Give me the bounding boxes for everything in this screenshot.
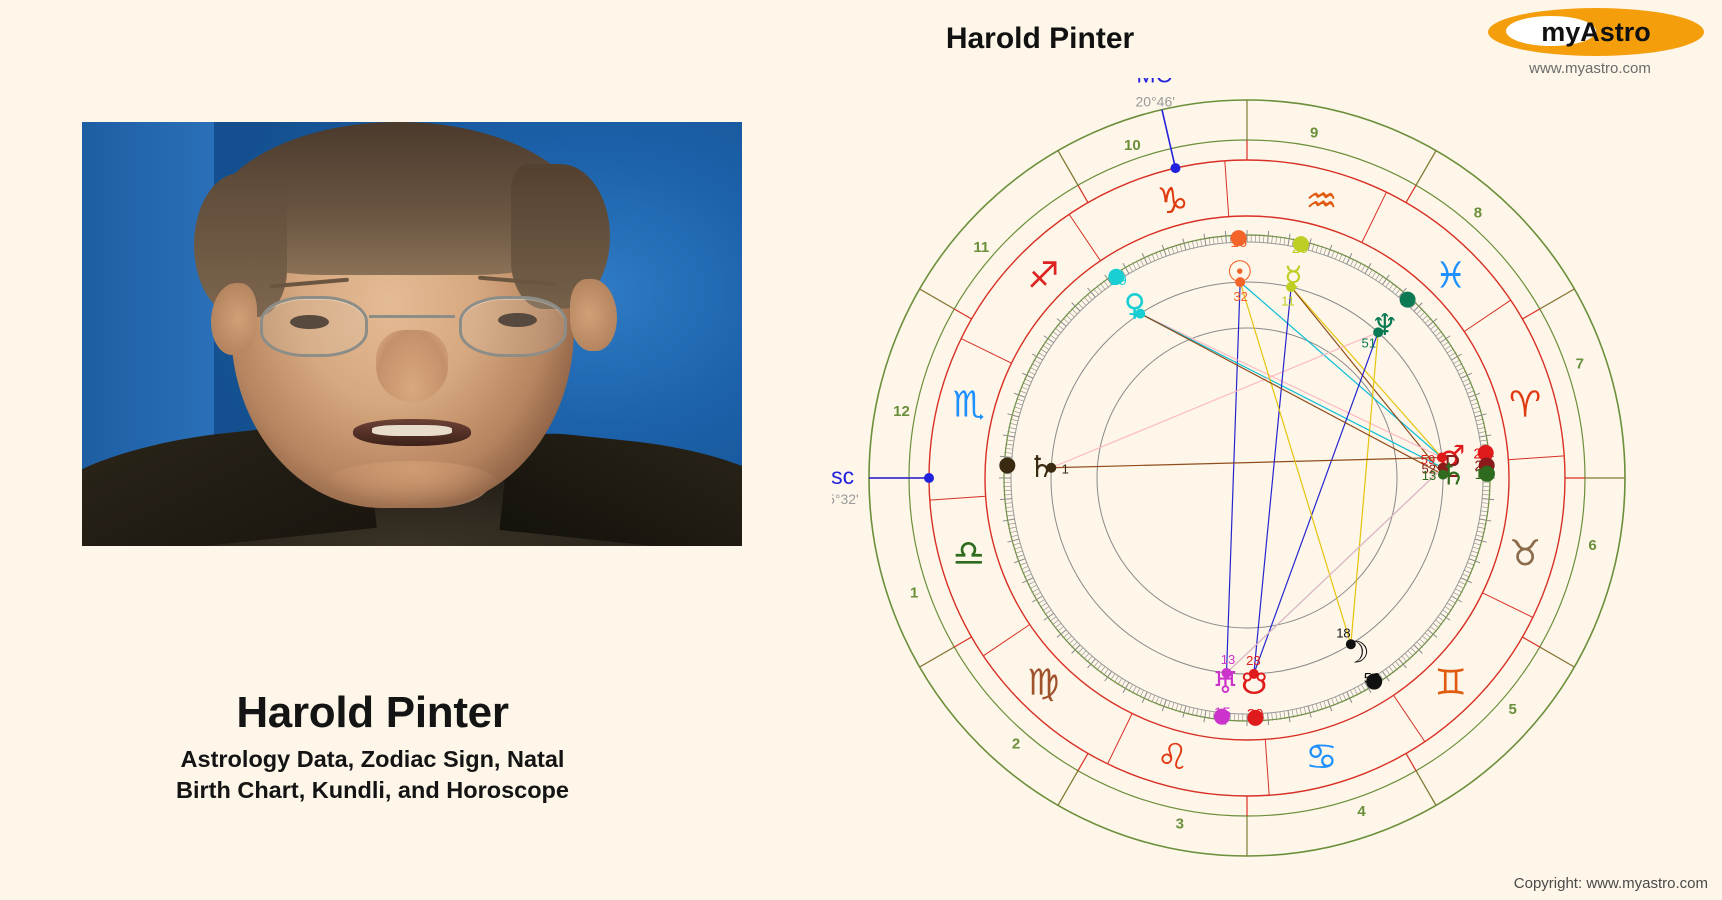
venus-degree: 29 [1110, 272, 1127, 289]
house-number-9: 9 [1310, 124, 1318, 141]
subtitle-line-2: Birth Chart, Kundli, and Horoscope [0, 775, 745, 806]
moon-degree: 56 [1364, 670, 1381, 687]
saturn-minute: 1 [1062, 461, 1069, 476]
house-number-1: 1 [910, 585, 918, 602]
south_node-glyph: ☋ [1241, 667, 1268, 702]
house-number-11: 11 [973, 239, 989, 256]
uranus-glyph: ♅ [1212, 666, 1239, 701]
angle-mc: MC20°46' [1136, 78, 1181, 173]
house-number-7: 7 [1576, 355, 1584, 372]
capricorn-glyph[interactable]: ♑ [1156, 181, 1188, 222]
portrait-chin [326, 461, 498, 503]
logo-url: www.myastro.com [1470, 60, 1710, 77]
planet-venus[interactable]: ♀29 [1108, 269, 1146, 324]
house-number-8: 8 [1474, 204, 1482, 221]
south_node-minute: 23 [1246, 653, 1260, 668]
subtitle-line-1: Astrology Data, Zodiac Sign, Natal [0, 744, 745, 775]
uranus-minute: 13 [1221, 652, 1235, 667]
sun-degree: 16 [1230, 234, 1247, 251]
mc-label: MC [1136, 78, 1172, 88]
planet-mercury[interactable]: ☿2911 [1281, 236, 1309, 309]
planet-moon[interactable]: ☽5618 [1336, 625, 1382, 689]
cancer-glyph[interactable]: ♋ [1305, 737, 1337, 778]
moon-glyph: ☽ [1343, 636, 1370, 671]
mercury-glyph: ☿ [1284, 260, 1302, 295]
saturn_node-degree: 19 [1475, 466, 1492, 483]
wheel-rings [869, 100, 1625, 856]
portrait-ear-right [570, 279, 616, 351]
portrait-ear-left [211, 283, 257, 355]
logo-text-my: my [1541, 17, 1580, 48]
house-number-10: 10 [1124, 137, 1141, 154]
page-title: Harold Pinter [840, 22, 1240, 56]
natal-chart-wheel[interactable]: ♎♍♌♋♊♉♈♓♒♑♐♏ 123456789101112 ☉1632☿2911♀… [832, 78, 1662, 878]
pisces-glyph[interactable]: ♓ [1435, 255, 1467, 296]
neptune-degree: 4 [1401, 295, 1409, 312]
sign-divider-lines [869, 100, 1625, 856]
scorpio-glyph[interactable]: ♏ [953, 384, 985, 425]
house-number-6: 6 [1588, 537, 1596, 554]
saturn_node-minute: 13 [1422, 468, 1436, 483]
portrait-glasses-right [459, 296, 567, 357]
taurus-glyph[interactable]: ♉ [1509, 534, 1541, 575]
planet-south_node[interactable]: ☋3923 [1241, 653, 1268, 726]
gemini-glyph[interactable]: ♊ [1435, 663, 1467, 704]
house-number-2: 2 [1012, 736, 1020, 753]
venus-glyph: ♀ [1124, 288, 1146, 323]
asc-label: Asc [832, 463, 854, 489]
saturn_node-glyph: ♄ [1440, 457, 1467, 492]
saturn-degree: 6 [1007, 458, 1015, 475]
portrait-nose [376, 330, 449, 402]
myastro-logo[interactable]: myAstro www.myastro.com [1470, 6, 1710, 82]
saturn-glyph: ♄ [1028, 450, 1055, 485]
uranus-degree: 15 [1214, 705, 1231, 722]
aries-glyph[interactable]: ♈ [1509, 384, 1541, 425]
portrait-glasses-bridge [369, 315, 455, 318]
asc-degree: 15°32' [832, 491, 859, 507]
logo-text-astro: Astro [1580, 17, 1651, 48]
leo-glyph[interactable]: ♌ [1156, 737, 1188, 778]
portrait-teeth [372, 425, 451, 436]
house-number-3: 3 [1176, 816, 1184, 833]
sagittarius-glyph[interactable]: ♐ [1027, 255, 1059, 296]
planet-sun[interactable]: ☉1632 [1226, 230, 1253, 304]
subject-subtitle: Astrology Data, Zodiac Sign, Natal Birth… [0, 744, 745, 806]
logo-text: myAstro [1488, 8, 1704, 56]
libra-glyph[interactable]: ♎ [953, 534, 985, 575]
portrait-image [82, 122, 742, 546]
virgo-glyph[interactable]: ♍ [1027, 663, 1059, 704]
angle-asc: Asc15°32' [832, 463, 934, 507]
portrait-glasses-left [260, 296, 368, 357]
mercury-degree: 29 [1292, 240, 1309, 257]
sun-minute: 32 [1233, 289, 1247, 304]
astro-profile-page: Harold Pinter Astrology Data, Zodiac Sig… [0, 0, 1722, 900]
house-number-12: 12 [893, 403, 910, 420]
south_node-degree: 39 [1247, 706, 1264, 723]
planet-neptune[interactable]: ♆451 [1362, 292, 1416, 351]
sun-glyph: ☉ [1226, 255, 1253, 290]
mercury-minute: 11 [1281, 294, 1295, 309]
mc-degree: 20°46' [1136, 93, 1175, 109]
house-number-4: 4 [1357, 803, 1366, 820]
aquarius-glyph[interactable]: ♒ [1305, 181, 1337, 222]
subject-name-heading: Harold Pinter [0, 688, 745, 738]
moon-minute: 18 [1336, 625, 1350, 640]
house-number-5: 5 [1508, 701, 1516, 718]
neptune-minute: 51 [1362, 336, 1376, 351]
